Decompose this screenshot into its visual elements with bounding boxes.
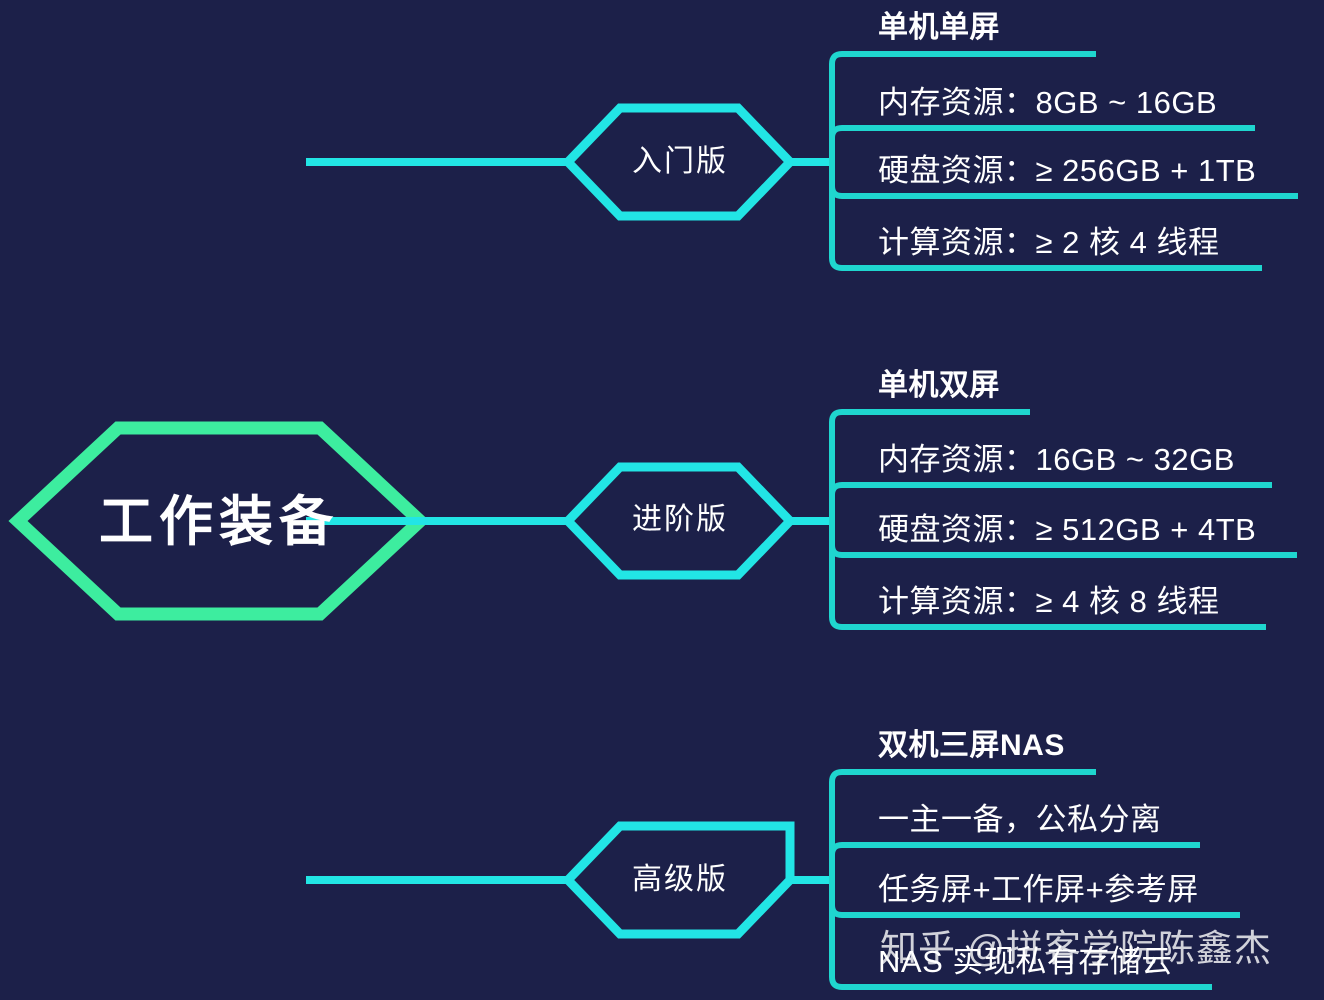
leaf-label-0-1[interactable]: 内存资源：8GB ~ 16GB xyxy=(878,83,1217,123)
leaf-label-1-1[interactable]: 内存资源：16GB ~ 32GB xyxy=(878,440,1235,480)
root-node-label[interactable]: 工作装备 xyxy=(13,425,425,619)
leaf-label-1-0[interactable]: 单机双屏 xyxy=(878,366,1000,406)
leaf-label-2-2[interactable]: 任务屏+工作屏+参考屏 xyxy=(878,870,1199,910)
leaf-label-0-3[interactable]: 计算资源：≥ 2 核 4 线程 xyxy=(878,223,1219,263)
branch-node-label-advanced[interactable]: 进阶版 xyxy=(570,466,790,574)
branch-node-label-entry[interactable]: 入门版 xyxy=(570,108,790,216)
watermark-text: 知乎 @拼客学院陈鑫杰 xyxy=(880,918,1272,972)
leaf-label-1-2[interactable]: 硬盘资源：≥ 512GB + 4TB xyxy=(878,510,1256,550)
leaf-label-2-0[interactable]: 双机三屏NAS xyxy=(878,726,1065,766)
leaf-label-1-3[interactable]: 计算资源：≥ 4 核 8 线程 xyxy=(878,582,1219,622)
leaf-label-2-1[interactable]: 一主一备，公私分离 xyxy=(878,800,1162,840)
leaf-label-0-2[interactable]: 硬盘资源：≥ 256GB + 1TB xyxy=(878,151,1256,191)
leaf-label-0-0[interactable]: 单机单屏 xyxy=(878,8,1000,48)
branch-node-label-pro[interactable]: 高级版 xyxy=(570,826,790,934)
mindmap-canvas: 工作装备 入门版 进阶版 高级版 单机单屏 内存资源：8GB ~ 16GB 硬盘… xyxy=(0,0,1324,1000)
